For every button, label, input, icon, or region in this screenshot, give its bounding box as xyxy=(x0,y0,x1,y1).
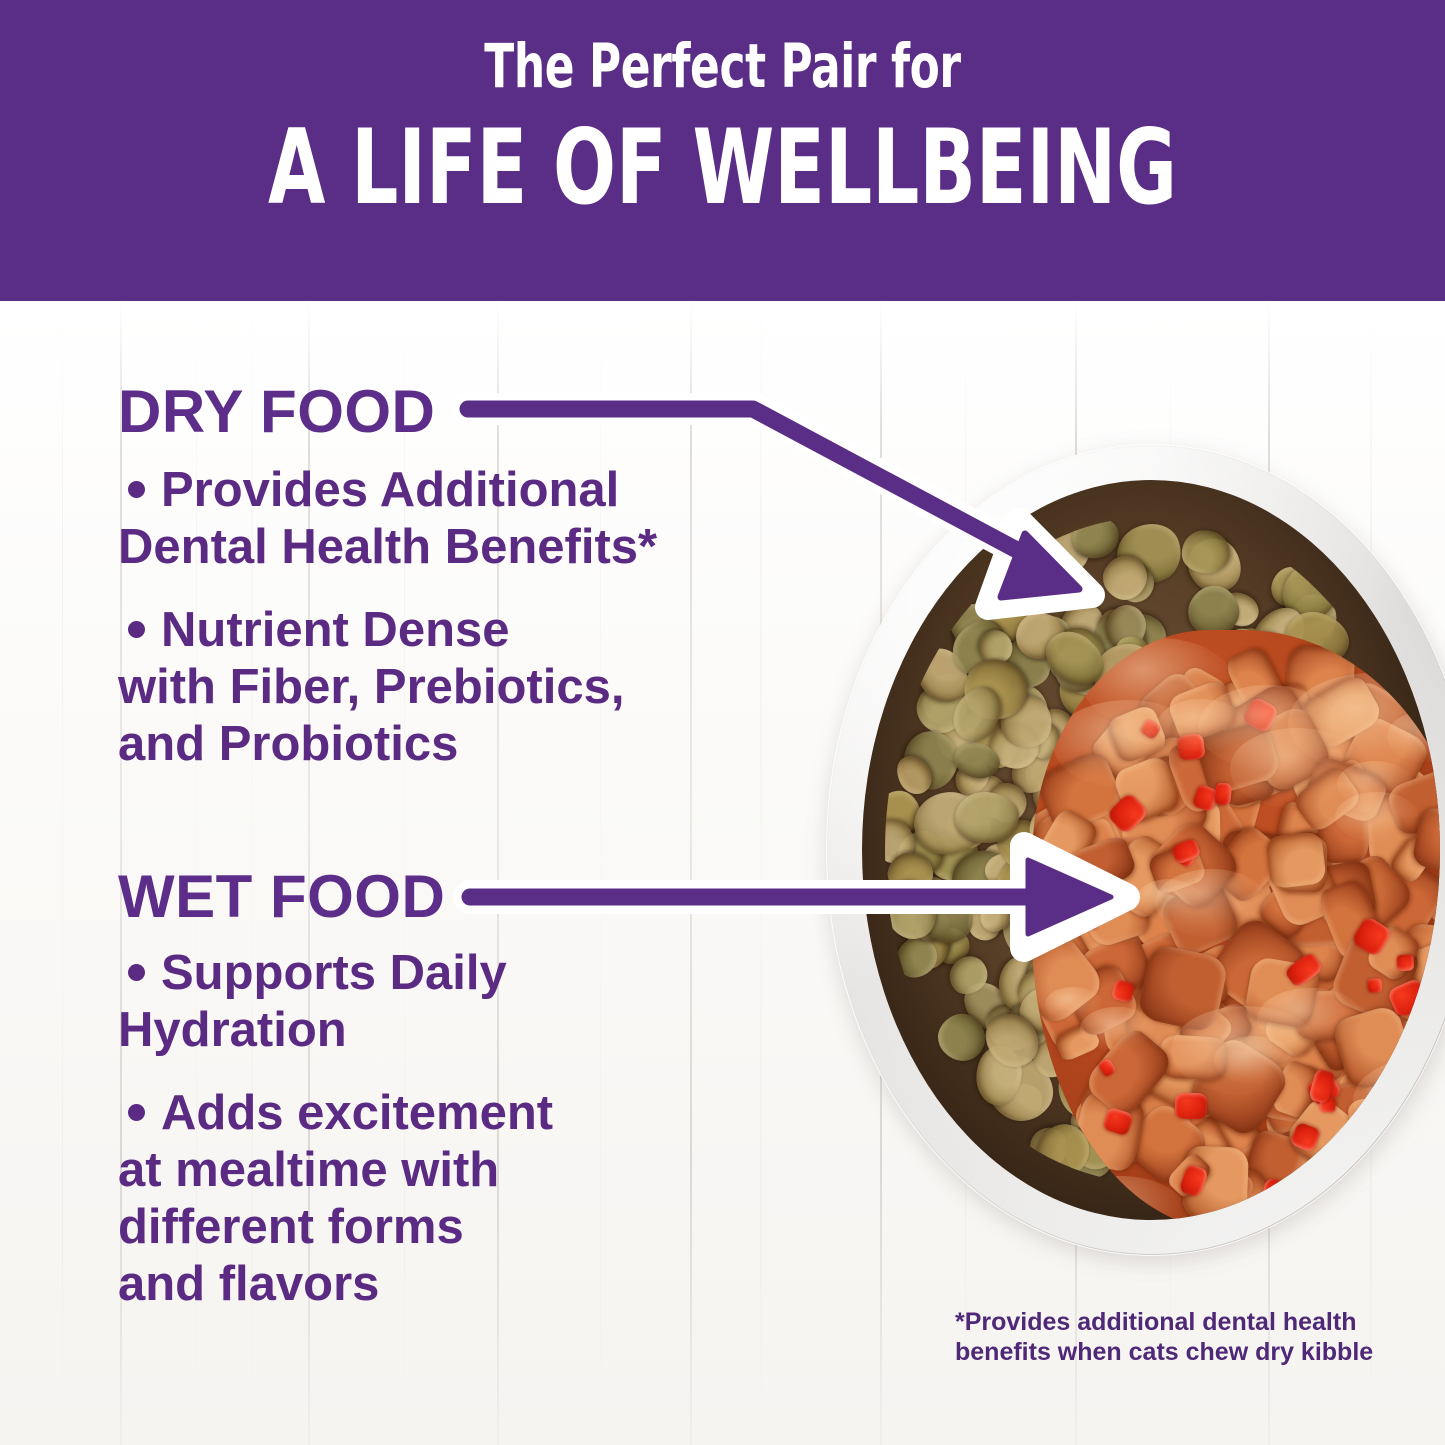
list-item-line: Dental Health Benefits* xyxy=(118,520,657,574)
red-pepper-bit xyxy=(1368,978,1382,993)
list-item-line: Hydration xyxy=(118,1003,347,1057)
list-item-line: and Probiotics xyxy=(118,717,458,771)
wet-food-area xyxy=(1032,630,1440,1220)
header-subtitle: The Perfect Pair for xyxy=(145,36,1301,97)
bullet-dot-icon xyxy=(128,621,145,638)
list-item-line: Provides Additional xyxy=(161,463,619,517)
list-item: Nutrient Densewith Fiber, Prebiotics,and… xyxy=(118,602,778,773)
bullet-dot-icon xyxy=(128,481,145,498)
page-title: A LIFE OF WELLBEING xyxy=(145,117,1301,220)
bowl-interior xyxy=(862,480,1440,1220)
gravy-highlight xyxy=(1080,1007,1155,1052)
red-pepper-bit xyxy=(1175,1093,1208,1119)
list-item-line: with Fiber, Prebiotics, xyxy=(118,660,624,714)
list-item-line: Supports Daily xyxy=(161,946,507,1000)
dry-food-heading: DRY FOOD xyxy=(118,382,435,442)
bullet-dot-icon xyxy=(128,964,145,981)
red-pepper-bit xyxy=(1214,782,1232,805)
list-item-line: at mealtime with xyxy=(118,1143,499,1197)
red-pepper-bit xyxy=(1396,955,1414,972)
dry-food-bullet-list: Provides AdditionalDental Health Benefit… xyxy=(118,462,778,799)
list-item: Adds excitementat mealtime withdifferent… xyxy=(118,1085,778,1313)
gravy-highlight xyxy=(1155,869,1268,937)
list-item-line: and flavors xyxy=(118,1257,379,1311)
infographic-page: The Perfect Pair for A LIFE OF WELLBEING xyxy=(0,0,1445,1445)
cat-food-bowl-photo xyxy=(826,444,1445,1299)
wet-food-bullet-list: Supports DailyHydration Adds excitementa… xyxy=(118,945,778,1339)
kibble-piece xyxy=(1181,530,1229,574)
bullet-dot-icon xyxy=(128,1104,145,1121)
list-item-line: Nutrient Dense xyxy=(161,603,510,657)
wet-food-chunk xyxy=(1265,830,1327,889)
wet-food-heading: WET FOOD xyxy=(118,867,445,927)
gravy-highlight xyxy=(1335,792,1419,842)
list-item: Supports DailyHydration xyxy=(118,945,778,1059)
footnote-text: *Provides additional dental health benef… xyxy=(955,1307,1375,1367)
gravy-highlight xyxy=(1257,988,1363,1052)
list-item: Provides AdditionalDental Health Benefit… xyxy=(118,462,778,576)
gravy-highlight xyxy=(1198,685,1338,769)
header-band: The Perfect Pair for A LIFE OF WELLBEING xyxy=(0,0,1445,301)
list-item-line: Adds excitement xyxy=(161,1086,553,1140)
bowl-rim xyxy=(826,444,1445,1256)
list-item-line: different forms xyxy=(118,1200,464,1254)
red-pepper-bit xyxy=(1084,912,1097,929)
